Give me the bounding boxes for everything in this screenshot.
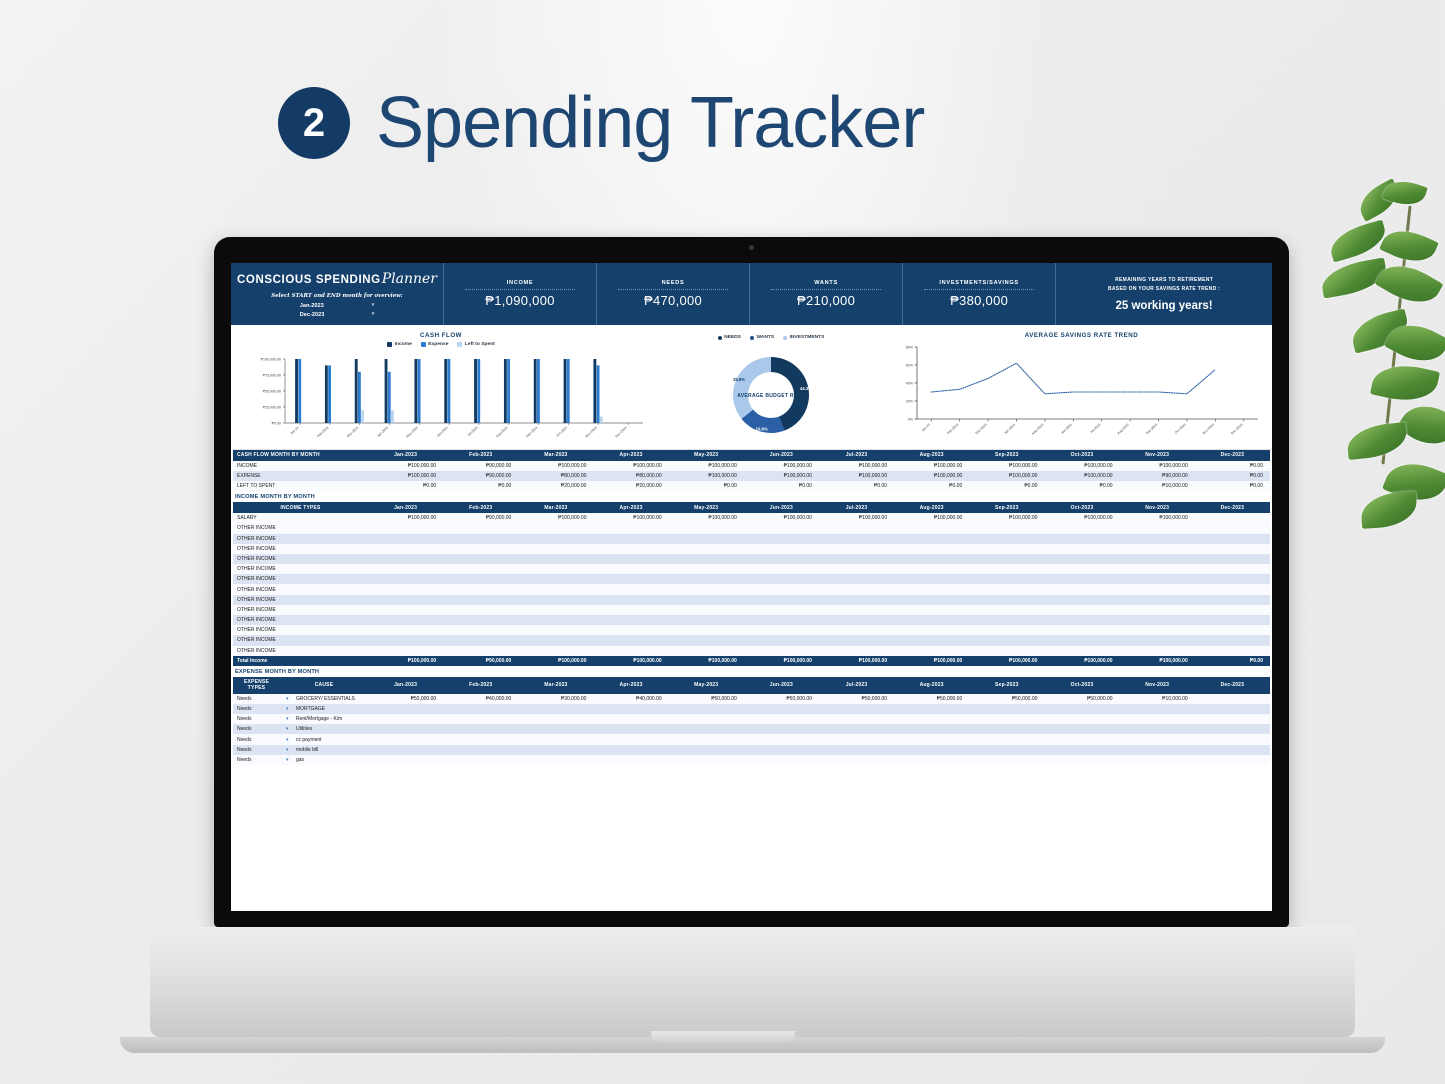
table-cell — [819, 523, 894, 533]
table-cell — [969, 724, 1044, 734]
brand-title-part1: CONSCIOUS SPENDING — [237, 274, 381, 286]
kpi-investments-value: ₱380,000 — [950, 293, 1008, 308]
table-cell — [1120, 646, 1195, 656]
column-header: May-2023 — [669, 677, 744, 694]
svg-text:20%: 20% — [906, 400, 914, 404]
table-cell: ₱100,000.00 — [969, 513, 1044, 523]
table-cell — [969, 615, 1044, 625]
column-header: Jan-2023 — [368, 677, 443, 694]
chevron-down-icon[interactable]: ▾ — [286, 747, 289, 753]
table-cell: Needs — [233, 734, 280, 744]
table-cell — [593, 724, 668, 734]
cash-flow-chart-title: CASH FLOW — [231, 325, 651, 339]
table-cell: ₱100,000.00 — [894, 513, 969, 523]
budget-rule-legend: NEEDS WANTS INVESTMENTS — [651, 335, 891, 340]
table-cell — [1195, 745, 1270, 755]
start-month-selector[interactable]: Jan-2023 ▾ — [231, 302, 443, 311]
table-row: OTHER INCOME — [233, 584, 1270, 594]
cash-flow-table-body: INCOME₱100,000.00₱90,000.00₱100,000.00₱1… — [233, 461, 1270, 492]
table-cell — [1044, 646, 1119, 656]
table-cell — [894, 625, 969, 635]
table-cell — [1120, 564, 1195, 574]
chevron-down-icon[interactable]: ▾ — [286, 737, 289, 743]
table-cell — [969, 534, 1044, 544]
table-cell: OTHER INCOME — [233, 554, 368, 564]
svg-text:Jun-2023: Jun-2023 — [1060, 423, 1073, 435]
table-cell — [518, 625, 593, 635]
table-cell — [1120, 724, 1195, 734]
table-cell: EXPENSE — [233, 471, 368, 481]
table-cell: ₱100,000.00 — [894, 461, 969, 471]
column-header: Aug-2023 — [894, 450, 969, 461]
table-cell — [443, 724, 518, 734]
legend-label-left-to-spent: Left to Spent — [465, 342, 495, 347]
table-cell — [443, 564, 518, 574]
column-header: Feb-2023 — [443, 450, 518, 461]
table-cell — [819, 635, 894, 645]
table-cell: ₱100,000.00 — [744, 513, 819, 523]
table-cell: OTHER INCOME — [233, 625, 368, 635]
chevron-down-icon[interactable]: ▾ — [286, 696, 289, 702]
table-cell — [744, 605, 819, 615]
cash-flow-table-wrap: CASH FLOW MONTH BY MONTHJan-2023Feb-2023… — [231, 450, 1272, 491]
svg-text:Feb-2023: Feb-2023 — [316, 426, 329, 439]
svg-text:Apr-2023: Apr-2023 — [1003, 423, 1016, 435]
table-cell — [518, 605, 593, 615]
table-cell — [744, 704, 819, 714]
table-cell — [368, 714, 443, 724]
table-cell: ₱0.00 — [368, 481, 443, 491]
table-cell — [593, 704, 668, 714]
table-cell: ₱100,000.00 — [1044, 656, 1119, 666]
table-cell — [744, 534, 819, 544]
svg-text:35.8%: 35.8% — [733, 377, 745, 382]
chevron-down-icon[interactable]: ▾ — [286, 757, 289, 763]
savings-trend-title: AVERAGE SAVINGS RATE TREND — [891, 325, 1272, 339]
table-cell — [1120, 755, 1195, 765]
app-header: CONSCIOUS SPENDING Planner Select START … — [231, 263, 1272, 325]
end-month-selector[interactable]: Dec-2023 ▾ — [231, 311, 443, 320]
table-row: OTHER INCOME — [233, 574, 1270, 584]
table-cell — [443, 615, 518, 625]
table-cell — [593, 584, 668, 594]
income-table-body: SALARY₱100,000.00₱90,000.00₱100,000.00₱1… — [233, 513, 1270, 666]
table-row: OTHER INCOME — [233, 554, 1270, 564]
column-header: Apr-2023 — [593, 677, 668, 694]
table-cell: OTHER INCOME — [233, 534, 368, 544]
svg-text:May-2023: May-2023 — [1031, 423, 1045, 436]
table-cell: INCOME — [233, 461, 368, 471]
table-cell — [593, 745, 668, 755]
table-cell: ▾Utilities — [280, 724, 368, 734]
donut-center-label: AVERAGE BUDGET RULE — [651, 393, 891, 399]
table-cell: OTHER INCOME — [233, 635, 368, 645]
table-cell: ▾cc payment — [280, 734, 368, 744]
column-header: CAUSE — [280, 677, 368, 694]
chevron-down-icon[interactable]: ▾ — [286, 726, 289, 732]
table-cell — [969, 704, 1044, 714]
column-header: Mar-2023 — [518, 502, 593, 513]
table-cell: OTHER INCOME — [233, 564, 368, 574]
table-cell — [1044, 615, 1119, 625]
table-cell: ▾Rent/Mortgage - Kim — [280, 714, 368, 724]
laptop-mockup: CONSCIOUS SPENDING Planner Select START … — [0, 0, 1445, 1084]
table-cell — [969, 523, 1044, 533]
table-cell — [518, 724, 593, 734]
table-cell: ₱100,000.00 — [819, 513, 894, 523]
table-cell — [819, 625, 894, 635]
kpi-wants-value: ₱210,000 — [797, 293, 855, 308]
table-cell: ₱100,000.00 — [669, 513, 744, 523]
table-cell: ₱100,000.00 — [1044, 471, 1119, 481]
svg-text:40%: 40% — [906, 382, 914, 386]
table-row: OTHER INCOME — [233, 523, 1270, 533]
table-cell: ₱100,000.00 — [368, 513, 443, 523]
chevron-down-icon[interactable]: ▾ — [372, 311, 375, 320]
end-month-value: Dec-2023 — [300, 311, 344, 320]
column-header: Oct-2023 — [1044, 502, 1119, 513]
table-cell: ₱90,000.00 — [1120, 471, 1195, 481]
table-cell — [669, 554, 744, 564]
table-cell: ₱100,000.00 — [969, 471, 1044, 481]
expense-table-body: Needs▾GROCERY/ ESSENTIALS₱50,000.00₱40,0… — [233, 694, 1270, 765]
table-cell — [894, 755, 969, 765]
table-cell: ₱100,000.00 — [1120, 513, 1195, 523]
table-cell — [593, 646, 668, 656]
table-row: OTHER INCOME — [233, 615, 1270, 625]
table-cell — [443, 635, 518, 645]
table-cell — [969, 595, 1044, 605]
table-cell: ₱100,000.00 — [368, 461, 443, 471]
table-cell: ₱50,000.00 — [368, 694, 443, 704]
table-cell — [969, 755, 1044, 765]
table-cell: Needs — [233, 745, 280, 755]
table-cell — [443, 595, 518, 605]
table-cell: OTHER INCOME — [233, 605, 368, 615]
table-cell — [1120, 734, 1195, 744]
table-cell — [518, 704, 593, 714]
table-cell: ₱50,000.00 — [744, 694, 819, 704]
table-cell — [969, 605, 1044, 615]
retirement-label-line2: BASED ON YOUR SAVINGS RATE TREND : — [1108, 286, 1220, 294]
table-cell — [368, 615, 443, 625]
table-row: Needs▾Utilities — [233, 724, 1270, 734]
table-cell: OTHER INCOME — [233, 646, 368, 656]
table-cell — [894, 544, 969, 554]
column-header: Jul-2023 — [819, 450, 894, 461]
table-cell — [1195, 574, 1270, 584]
expense-table-wrap: EXPENSE TYPESCAUSEJan-2023Feb-2023Mar-20… — [231, 677, 1272, 765]
kpi-needs-value: ₱470,000 — [644, 293, 702, 308]
table-cell — [969, 584, 1044, 594]
column-header: Dec-2023 — [1195, 502, 1270, 513]
income-table: INCOME TYPESJan-2023Feb-2023Mar-2023Apr-… — [233, 502, 1270, 666]
table-cell: ₱100,000.00 — [593, 656, 668, 666]
table-cell — [443, 714, 518, 724]
table-cell — [744, 745, 819, 755]
table-cell — [443, 554, 518, 564]
svg-text:Mar-2023: Mar-2023 — [975, 423, 988, 436]
divider — [771, 289, 880, 290]
chevron-down-icon[interactable]: ▾ — [286, 706, 289, 712]
table-cell: ₱0.00 — [744, 481, 819, 491]
table-cell — [1195, 625, 1270, 635]
table-row: SALARY₱100,000.00₱90,000.00₱100,000.00₱1… — [233, 513, 1270, 523]
table-cell — [744, 574, 819, 584]
table-row: Needs▾GROCERY/ ESSENTIALS₱50,000.00₱40,0… — [233, 694, 1270, 704]
table-cell — [819, 615, 894, 625]
table-cell — [669, 595, 744, 605]
table-row: OTHER INCOME — [233, 534, 1270, 544]
kpi-income-value: ₱1,090,000 — [485, 293, 555, 308]
table-cell: ₱50,000.00 — [669, 694, 744, 704]
table-cell — [368, 605, 443, 615]
svg-text:Jan-23: Jan-23 — [289, 426, 299, 436]
column-header: Sep-2023 — [969, 450, 1044, 461]
table-cell — [593, 574, 668, 584]
webcam-icon — [749, 245, 754, 250]
table-cell — [1195, 755, 1270, 765]
expense-table-header: EXPENSE TYPESCAUSEJan-2023Feb-2023Mar-20… — [233, 677, 1270, 694]
table-cell — [819, 564, 894, 574]
table-cell: ₱100,000.00 — [593, 513, 668, 523]
savings-trend-chart: AVERAGE SAVINGS RATE TREND 0%20%40%60%80… — [891, 325, 1272, 449]
table-cell — [368, 523, 443, 533]
svg-text:Feb-2023: Feb-2023 — [946, 423, 959, 436]
table-cell: LEFT TO SPENT — [233, 481, 368, 491]
table-cell: ₱100,000.00 — [894, 471, 969, 481]
table-cell — [518, 564, 593, 574]
table-cell — [518, 544, 593, 554]
table-cell — [368, 554, 443, 564]
table-cell — [669, 564, 744, 574]
charts-row: CASH FLOW Income Expense — [231, 325, 1272, 450]
column-header: CASH FLOW MONTH BY MONTH — [233, 450, 368, 461]
table-cell: ₱100,000.00 — [368, 656, 443, 666]
legend-item-expense: Expense — [421, 342, 449, 347]
table-cell — [969, 745, 1044, 755]
table-cell: OTHER INCOME — [233, 574, 368, 584]
svg-text:80%: 80% — [906, 346, 914, 350]
table-row: OTHER INCOME — [233, 605, 1270, 615]
table-cell — [819, 734, 894, 744]
column-header: Apr-2023 — [593, 502, 668, 513]
column-header: Dec-2023 — [1195, 677, 1270, 694]
table-cell — [518, 615, 593, 625]
table-cell — [1195, 564, 1270, 574]
table-cell — [1044, 635, 1119, 645]
table-cell — [1120, 605, 1195, 615]
svg-text:₱0.00: ₱0.00 — [272, 422, 281, 426]
table-cell — [443, 584, 518, 594]
svg-text:₱50,000.00: ₱50,000.00 — [263, 390, 281, 394]
table-cell — [1120, 714, 1195, 724]
income-table-header: INCOME TYPESJan-2023Feb-2023Mar-2023Apr-… — [233, 502, 1270, 513]
table-cell — [1120, 625, 1195, 635]
table-cell — [368, 734, 443, 744]
table-row: OTHER INCOME — [233, 564, 1270, 574]
table-cell — [593, 734, 668, 744]
table-cell — [443, 605, 518, 615]
table-cell — [1044, 595, 1119, 605]
column-header: Sep-2023 — [969, 677, 1044, 694]
column-header: Aug-2023 — [894, 502, 969, 513]
table-cell: ₱20,000.00 — [518, 481, 593, 491]
svg-text:Jul-2023: Jul-2023 — [467, 426, 479, 438]
retirement-value: 25 working years! — [1115, 300, 1212, 312]
retirement-label-line1: REMAINING YEARS TO RETIREMENT — [1115, 277, 1213, 285]
table-cell: Needs — [233, 714, 280, 724]
laptop-front-notch — [651, 1031, 795, 1043]
svg-text:Aug-2023: Aug-2023 — [1116, 423, 1129, 436]
table-cell: ₱50,000.00 — [819, 694, 894, 704]
spreadsheet-app: CONSCIOUS SPENDING Planner Select START … — [231, 263, 1272, 911]
table-cell: ₱80,000.00 — [593, 471, 668, 481]
table-cell — [1044, 574, 1119, 584]
column-header: Jun-2023 — [744, 677, 819, 694]
table-cell — [1195, 605, 1270, 615]
table-cell — [368, 745, 443, 755]
table-cell: ₱0.00 — [1195, 481, 1270, 491]
expense-table: EXPENSE TYPESCAUSEJan-2023Feb-2023Mar-20… — [233, 677, 1270, 765]
table-cell — [593, 755, 668, 765]
table-cell — [1120, 615, 1195, 625]
table-cell — [894, 564, 969, 574]
table-cell — [1044, 544, 1119, 554]
table-cell — [1044, 755, 1119, 765]
table-cell — [1120, 745, 1195, 755]
table-cell: Needs — [233, 694, 280, 704]
budget-rule-chart: NEEDS WANTS INVESTMENTS 44.3%19.8% — [651, 325, 891, 449]
table-row: OTHER INCOME — [233, 625, 1270, 635]
kpi-wants-label: WANTS — [814, 280, 838, 286]
table-cell — [1044, 714, 1119, 724]
table-cell — [518, 574, 593, 584]
table-cell — [1044, 734, 1119, 744]
table-cell — [1195, 615, 1270, 625]
table-cell — [1044, 625, 1119, 635]
column-header: Feb-2023 — [443, 502, 518, 513]
table-cell — [1195, 544, 1270, 554]
table-cell: ₱100,000.00 — [1044, 461, 1119, 471]
brand-title: CONSCIOUS SPENDING Planner — [231, 271, 443, 287]
brand-title-part2: Planner — [382, 271, 437, 287]
select-month-hint: Select START and END month for overview: — [231, 293, 443, 299]
table-row: Needs▾cc payment — [233, 734, 1270, 744]
table-row: Needs▾Rent/Mortgage - Kim — [233, 714, 1270, 724]
table-cell — [894, 635, 969, 645]
table-cell — [1044, 724, 1119, 734]
table-cell — [819, 595, 894, 605]
income-total-row: Total Income₱100,000.00₱90,000.00₱100,00… — [233, 656, 1270, 666]
table-cell — [518, 584, 593, 594]
table-cell — [368, 646, 443, 656]
table-cell — [1044, 605, 1119, 615]
svg-text:₱25,000.00: ₱25,000.00 — [263, 406, 281, 410]
table-cell — [1195, 595, 1270, 605]
svg-text:Nov-2023: Nov-2023 — [1202, 423, 1215, 436]
table-cell — [969, 734, 1044, 744]
table-cell: ₱90,000.00 — [443, 656, 518, 666]
table-cell — [593, 635, 668, 645]
table-cell — [1195, 724, 1270, 734]
table-cell — [1195, 513, 1270, 523]
table-cell: Total Income — [233, 656, 368, 666]
table-row: EXPENSE₱100,000.00₱90,000.00₱80,000.00₱8… — [233, 471, 1270, 481]
table-cell: ₱100,000.00 — [518, 461, 593, 471]
svg-text:₱100,000.00: ₱100,000.00 — [261, 358, 281, 362]
table-cell — [518, 745, 593, 755]
table-cell — [368, 724, 443, 734]
legend-item-left-to-spent: Left to Spent — [457, 342, 494, 347]
chevron-down-icon[interactable]: ▾ — [372, 302, 375, 311]
table-cell — [819, 755, 894, 765]
legend-swatch-expense — [421, 342, 426, 347]
column-header: May-2023 — [669, 502, 744, 513]
table-cell — [819, 584, 894, 594]
table-cell — [744, 544, 819, 554]
kpi-needs-label: NEEDS — [662, 280, 685, 286]
column-header: Aug-2023 — [894, 677, 969, 694]
table-row: LEFT TO SPENT₱0.00₱0.00₱20,000.00₱20,000… — [233, 481, 1270, 491]
legend-swatch-left-to-spent — [457, 342, 462, 347]
table-cell: ₱100,000.00 — [969, 656, 1044, 666]
table-cell: ₱100,000.00 — [744, 471, 819, 481]
kpi-investments-label: INVESTMENTS/SAVINGS — [939, 280, 1018, 286]
cash-flow-table-header: CASH FLOW MONTH BY MONTHJan-2023Feb-2023… — [233, 450, 1270, 461]
table-cell: OTHER INCOME — [233, 615, 368, 625]
table-cell: ₱30,000.00 — [518, 694, 593, 704]
kpi-needs: NEEDS ₱470,000 — [597, 263, 750, 325]
table-cell — [969, 635, 1044, 645]
legend-item-income: Income — [387, 342, 412, 347]
table-cell — [443, 534, 518, 544]
table-cell: ₱100,000.00 — [669, 471, 744, 481]
legend-dot-wants — [750, 336, 754, 340]
table-cell: ₱0.00 — [1195, 461, 1270, 471]
legend-label-wants: WANTS — [756, 335, 774, 340]
table-cell — [969, 714, 1044, 724]
table-cell — [368, 704, 443, 714]
table-cell — [819, 544, 894, 554]
table-cell — [368, 574, 443, 584]
table-cell: ₱10,000.00 — [1120, 481, 1195, 491]
table-cell: ₱80,000.00 — [518, 471, 593, 481]
svg-text:Dec-2023: Dec-2023 — [614, 426, 627, 439]
table-cell — [744, 584, 819, 594]
table-cell: ₱0.00 — [819, 481, 894, 491]
table-cell: ₱40,000.00 — [443, 694, 518, 704]
svg-text:Aug-2023: Aug-2023 — [495, 426, 508, 439]
table-cell: ▾GROCERY/ ESSENTIALS — [280, 694, 368, 704]
cash-flow-table: CASH FLOW MONTH BY MONTHJan-2023Feb-2023… — [233, 450, 1270, 491]
table-cell: ▾MORTGAGE — [280, 704, 368, 714]
table-cell — [1195, 734, 1270, 744]
chevron-down-icon[interactable]: ▾ — [286, 716, 289, 722]
table-cell — [744, 523, 819, 533]
start-month-value: Jan-2023 — [300, 302, 344, 311]
cash-flow-chart: CASH FLOW Income Expense — [231, 325, 651, 449]
table-row: Needs▾MORTGAGE — [233, 704, 1270, 714]
table-cell — [894, 724, 969, 734]
svg-text:Oct-2023: Oct-2023 — [555, 426, 568, 438]
table-cell — [669, 646, 744, 656]
table-cell — [593, 605, 668, 615]
table-cell — [368, 755, 443, 765]
table-cell — [368, 534, 443, 544]
kpi-income: INCOME ₱1,090,000 — [444, 263, 597, 325]
table-cell — [443, 704, 518, 714]
